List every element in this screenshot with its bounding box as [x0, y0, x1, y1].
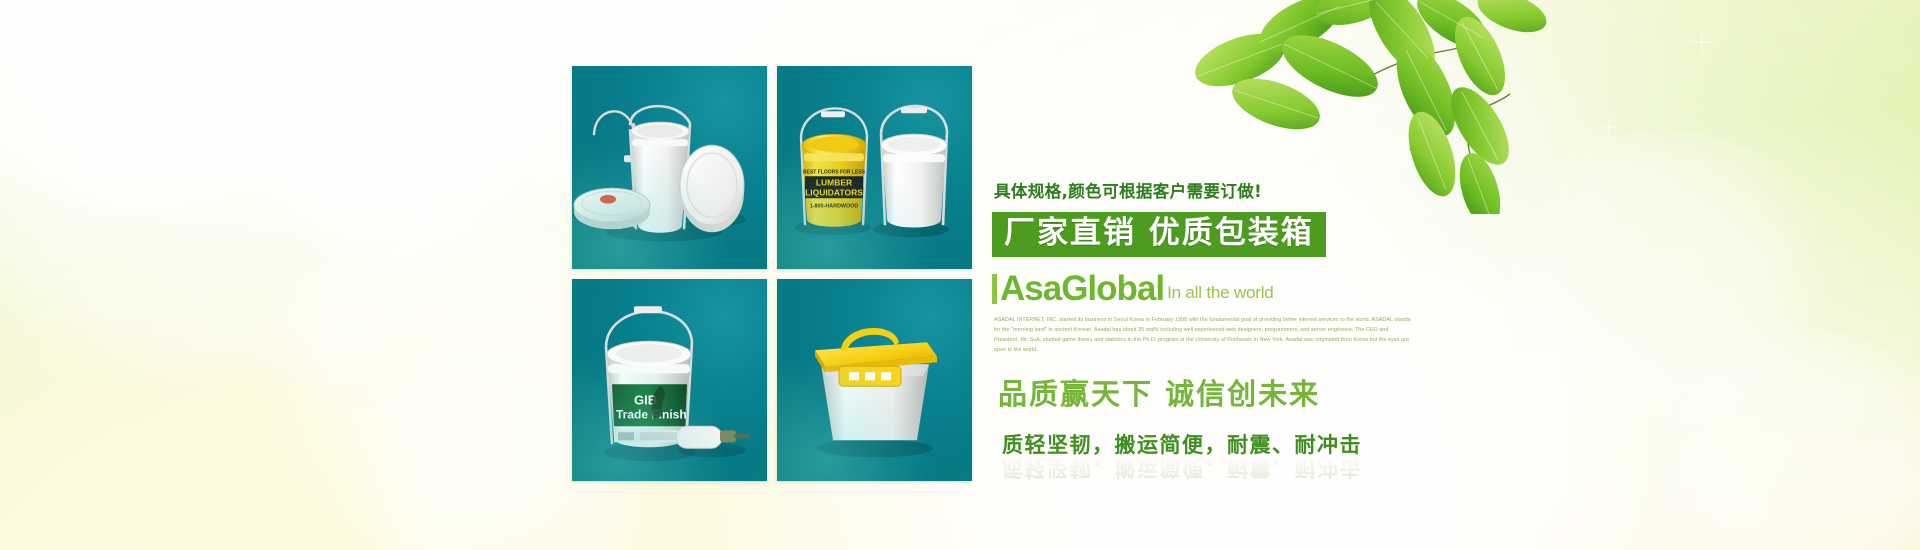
slogan-text: 品质赢天下 诚信创未来	[998, 371, 1422, 413]
bokeh-circle	[180, 0, 610, 240]
features-block: 质轻坚韧，搬运简便，耐震、耐冲击 质轻坚韧，搬运简便，耐震、耐冲击	[1002, 429, 1422, 485]
bokeh-circle	[1640, 330, 1920, 550]
bokeh-circle	[90, 380, 450, 550]
photo-yellow-and-white-pails[interactable]: BEST FLOORS FOR LESS LUMBER LIQUIDATORS …	[777, 66, 972, 269]
features-text-reflection: 质轻坚韧，搬运简便，耐震、耐冲击	[1002, 454, 1362, 484]
product-photo-grid: BEST FLOORS FOR LESS LUMBER LIQUIDATORS …	[572, 66, 972, 481]
photo-yellow-lid-tote-box[interactable]	[777, 279, 972, 482]
banner-copy: 具体规格,颜色可根据客户需要订做! 厂家直销 优质包装箱 AsaGlobal I…	[992, 178, 1422, 485]
company-blurb: ASADAL INTERNET, INC. started its busine…	[994, 315, 1414, 355]
lead-text: 具体规格,颜色可根据客户需要订做!	[994, 178, 1422, 202]
sparkle-icon	[130, 85, 170, 125]
sparkle-icon	[320, 220, 376, 276]
photo-white-pail-with-lids[interactable]	[572, 66, 767, 269]
brand-lockup: AsaGlobal In all the world	[992, 271, 1422, 306]
brand-tagline: In all the world	[1167, 283, 1273, 303]
brand-accent-bar	[992, 274, 997, 304]
headline-ribbon: 厂家直销 优质包装箱	[992, 212, 1326, 257]
brand-name: AsaGlobal	[1000, 271, 1164, 306]
sparkle-icon	[160, 0, 230, 60]
bokeh-circle	[0, 120, 480, 380]
ribbon-wrap: 厂家直销 优质包装箱	[992, 212, 1422, 257]
photo-gib-trade-finish-pail[interactable]: GIB Trade Finish	[572, 279, 767, 482]
pail-handle	[594, 111, 634, 135]
promo-banner: BEST FLOORS FOR LESS LUMBER LIQUIDATORS …	[0, 0, 1920, 550]
bokeh-circle	[230, 0, 560, 270]
sparkle-icon	[255, 0, 301, 46]
bokeh-circle	[0, 0, 380, 210]
sparkle-icon	[1545, 440, 1585, 480]
sparkle-icon	[1680, 20, 1724, 64]
